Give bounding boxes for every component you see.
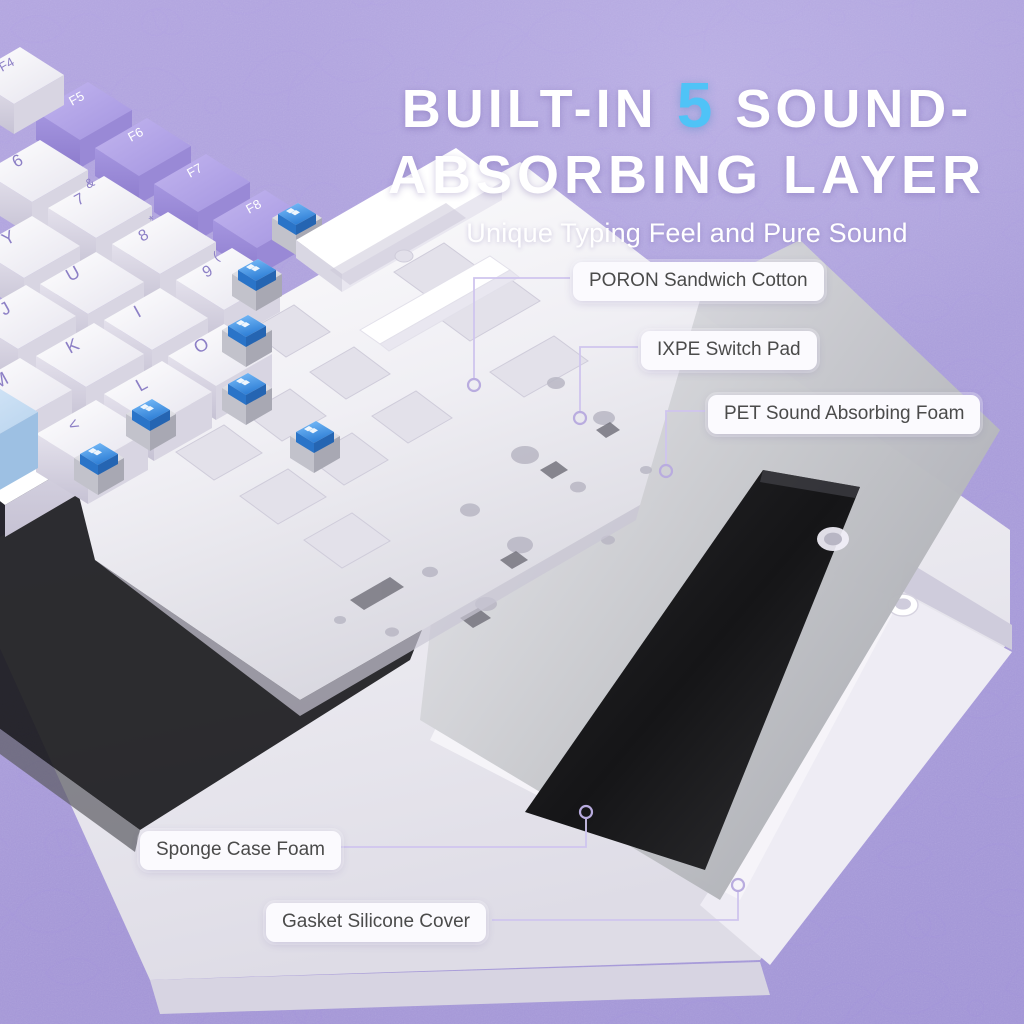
headline-part-1: BUILT-IN: [402, 79, 658, 139]
callout-gasket-silicone-cover: Gasket Silicone Cover: [266, 903, 486, 942]
callout-sponge-case-foam: Sponge Case Foam: [140, 831, 341, 870]
headline-line-1: BUILT-IN 5 SOUND-: [372, 72, 1002, 142]
headline-block: BUILT-IN 5 SOUND- ABSORBING LAYER Unique…: [372, 72, 1002, 249]
callout-ixpe-switch-pad: IXPE Switch Pad: [641, 331, 817, 370]
headline-line-2: ABSORBING LAYER: [372, 142, 1002, 208]
headline-accent-number: 5: [677, 69, 717, 141]
headline-part-2: SOUND-: [735, 79, 972, 139]
headline-subtitle: Unique Typing Feel and Pure Sound: [372, 218, 1002, 249]
product-banner: F5 F6 F7 F8: [0, 0, 1024, 1024]
callout-pet-sound-absorbing-foam: PET Sound Absorbing Foam: [708, 395, 980, 434]
callout-poron-sandwich-cotton: PORON Sandwich Cotton: [573, 262, 824, 301]
